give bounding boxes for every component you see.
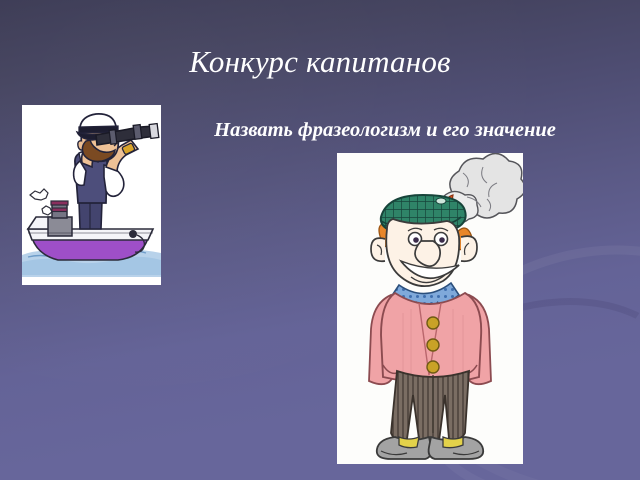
slide-title: Конкурс капитанов xyxy=(0,44,640,80)
image-hot-head-man xyxy=(337,153,523,464)
captain-illustration xyxy=(22,105,161,285)
slide-subtitle: Назвать фразеологизм и его значение xyxy=(150,119,620,142)
image-captain-with-spyglass xyxy=(22,105,161,285)
trousers-group xyxy=(391,371,469,443)
shoes-group xyxy=(377,437,483,459)
hothead-illustration xyxy=(337,153,523,464)
jacket-group xyxy=(369,293,491,384)
slide-canvas: Конкурс капитанов Назвать фразеологизм и… xyxy=(0,0,640,480)
